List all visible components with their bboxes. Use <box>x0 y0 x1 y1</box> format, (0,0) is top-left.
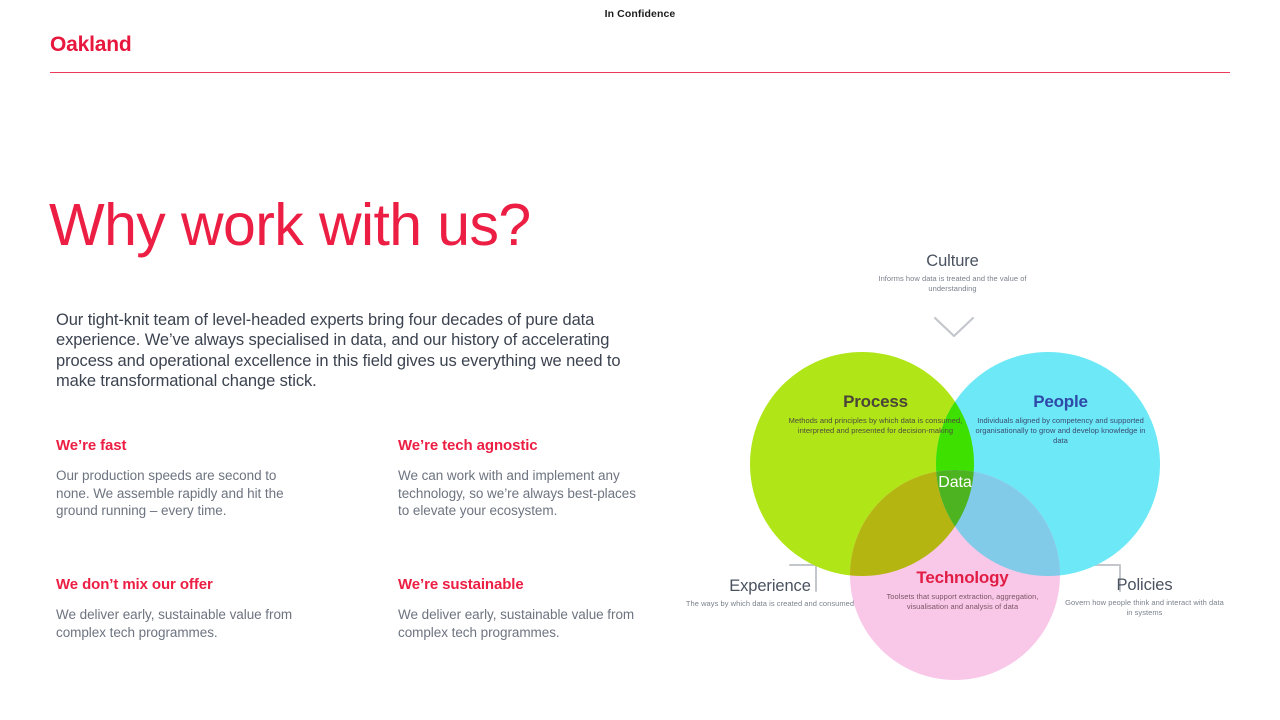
chevron-down-icon <box>935 318 973 336</box>
venn-satellite-culture-title: Culture <box>865 252 1040 271</box>
feature-item-sustainable: We’re sustainable We deliver early, sust… <box>398 576 648 641</box>
venn-satellite-policies-desc: Govern how people think and interact wit… <box>1062 598 1227 618</box>
feature-item-tech-agnostic: We’re tech agnostic We can work with and… <box>398 437 648 520</box>
feature-title: We’re sustainable <box>398 576 648 593</box>
venn-center-label: Data <box>890 474 1020 492</box>
feature-title: We don’t mix our offer <box>56 576 306 593</box>
venn-diagram: Process Methods and principles by which … <box>690 240 1220 685</box>
venn-label-process: Process Methods and principles by which … <box>788 392 963 436</box>
confidentiality-banner: In Confidence <box>0 8 1280 20</box>
venn-label-technology-desc: Toolsets that support extraction, aggreg… <box>875 592 1050 612</box>
venn-satellite-experience-title: Experience <box>685 577 855 596</box>
venn-satellite-culture: Culture Informs how data is treated and … <box>865 252 1040 294</box>
feature-item-focused-offer: We don’t mix our offer We deliver early,… <box>56 576 306 641</box>
feature-title: We’re fast <box>56 437 306 454</box>
venn-satellite-experience: Experience The ways by which data is cre… <box>685 577 855 609</box>
brand-logo: Oakland <box>50 33 131 57</box>
feature-title: We’re tech agnostic <box>398 437 648 454</box>
venn-label-process-title: Process <box>788 392 963 412</box>
venn-label-technology-title: Technology <box>875 568 1050 588</box>
page-title: Why work with us? <box>49 192 531 258</box>
venn-svg <box>690 240 1220 685</box>
feature-item-fast: We’re fast Our production speeds are sec… <box>56 437 306 520</box>
venn-label-people: People Individuals aligned by competency… <box>968 392 1153 447</box>
intro-paragraph: Our tight-knit team of level-headed expe… <box>56 310 636 392</box>
feature-body: We deliver early, sustainable value from… <box>56 606 306 641</box>
feature-body: Our production speeds are second to none… <box>56 467 306 520</box>
venn-label-process-desc: Methods and principles by which data is … <box>788 416 963 436</box>
venn-label-technology: Technology Toolsets that support extract… <box>875 568 1050 612</box>
venn-satellite-policies: Policies Govern how people think and int… <box>1062 576 1227 618</box>
feature-body: We deliver early, sustainable value from… <box>398 606 648 641</box>
venn-satellite-policies-title: Policies <box>1062 576 1227 595</box>
venn-satellite-culture-desc: Informs how data is treated and the valu… <box>865 274 1040 294</box>
header-divider <box>50 72 1230 73</box>
venn-satellite-experience-desc: The ways by which data is created and co… <box>685 599 855 609</box>
venn-label-people-title: People <box>968 392 1153 412</box>
venn-label-people-desc: Individuals aligned by competency and su… <box>968 416 1153 447</box>
feature-body: We can work with and implement any techn… <box>398 467 648 520</box>
